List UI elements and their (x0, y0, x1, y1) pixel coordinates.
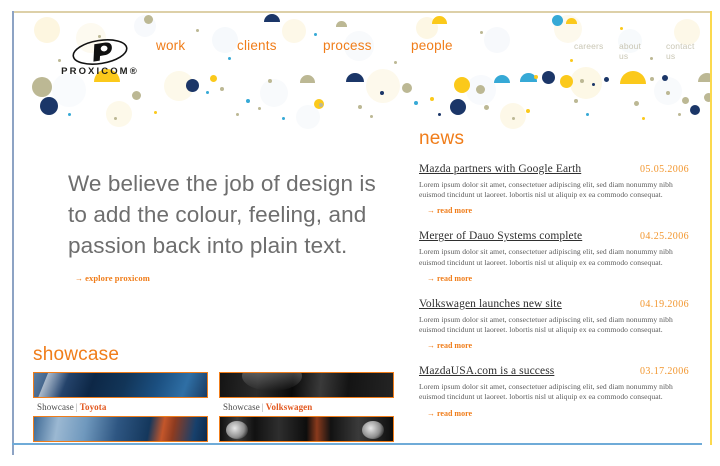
showcase-caption-label: Showcase (223, 402, 260, 412)
news-item-header: Merger of Dauo Systems complete 04.25.20… (419, 230, 689, 244)
nav-item-people[interactable]: people (411, 38, 453, 53)
showcase-title: showcase (33, 344, 403, 366)
page-root: PROXICOM® work clients process people ca… (0, 0, 720, 466)
proxicom-p-logo-icon (70, 39, 130, 65)
news-section: news Mazda partners with Google Earth 05… (419, 128, 689, 433)
showcase-thumbnail-toyota-top[interactable] (33, 372, 208, 398)
page-border-top (12, 11, 712, 13)
nav-item-careers[interactable]: careers (574, 41, 603, 51)
showcase-card-volkswagen[interactable]: Showcase|Volkswagen (219, 372, 394, 442)
news-item: MazdaUSA.com is a success 03.17.2006 Lor… (419, 365, 689, 420)
showcase-card-toyota[interactable]: Showcase|Toyota (33, 372, 208, 442)
read-more-label: read more (437, 274, 472, 283)
hero-statement: We believe the job of design is to add t… (68, 168, 388, 297)
explore-proxicom-link[interactable]: →explore proxicom (75, 263, 150, 294)
showcase-thumbnail-toyota-bottom[interactable] (33, 416, 208, 442)
page-border-bottom (12, 443, 702, 445)
news-body: Lorem ipsum dolor sit amet, consectetuer… (419, 247, 689, 267)
showcase-caption-volkswagen: Showcase|Volkswagen (219, 398, 394, 415)
explore-proxicom-label: explore proxicom (85, 273, 150, 283)
news-headline-link[interactable]: Merger of Dauo Systems complete (419, 230, 582, 242)
showcase-brand-volkswagen: Volkswagen (266, 402, 313, 412)
news-body: Lorem ipsum dolor sit amet, consectetuer… (419, 315, 689, 335)
showcase-caption-separator: | (262, 402, 264, 412)
arrow-right-icon: → (427, 206, 435, 215)
news-title: news (419, 128, 689, 150)
news-date: 04.25.2006 (640, 231, 689, 242)
news-headline-link[interactable]: MazdaUSA.com is a success (419, 365, 554, 377)
page-border-left (12, 11, 14, 455)
arrow-right-icon: → (427, 409, 435, 418)
nav-item-work[interactable]: work (156, 38, 185, 53)
read-more-link[interactable]: →read more (427, 341, 472, 350)
logo-wordmark: PROXICOM® (57, 66, 143, 77)
hero-statement-text: We believe the job of design is to add t… (68, 171, 376, 258)
main-navigation: work clients process people (150, 38, 450, 58)
news-body: Lorem ipsum dolor sit amet, consectetuer… (419, 180, 689, 200)
news-body: Lorem ipsum dolor sit amet, consectetuer… (419, 382, 689, 402)
showcase-caption-label: Showcase (37, 402, 74, 412)
nav-item-contact-us[interactable]: contact us (666, 41, 694, 61)
arrow-right-icon: → (75, 274, 83, 283)
news-item: Volkswagen launches new site 04.19.2006 … (419, 298, 689, 353)
page-border-right (710, 11, 712, 445)
read-more-link[interactable]: →read more (427, 409, 472, 418)
news-headline-link[interactable]: Volkswagen launches new site (419, 298, 562, 310)
hero-section: We believe the job of design is to add t… (68, 168, 388, 297)
nav-item-process[interactable]: process (323, 38, 372, 53)
showcase-section: showcase Showcase|Toyota Showcase|Volk (33, 344, 403, 366)
read-more-label: read more (437, 206, 472, 215)
news-item: Mazda partners with Google Earth 05.05.2… (419, 163, 689, 218)
nav-item-about-us[interactable]: about us (619, 41, 641, 61)
showcase-caption-separator: | (76, 402, 78, 412)
arrow-right-icon: → (427, 341, 435, 350)
nav-item-clients[interactable]: clients (237, 38, 277, 53)
news-date: 05.05.2006 (640, 164, 689, 175)
read-more-label: read more (437, 409, 472, 418)
arrow-right-icon: → (427, 274, 435, 283)
read-more-label: read more (437, 341, 472, 350)
showcase-caption-toyota: Showcase|Toyota (33, 398, 208, 415)
news-item: Merger of Dauo Systems complete 04.25.20… (419, 230, 689, 285)
news-date: 03.17.2006 (640, 366, 689, 377)
read-more-link[interactable]: →read more (427, 206, 472, 215)
news-item-header: MazdaUSA.com is a success 03.17.2006 (419, 365, 689, 379)
news-date: 04.19.2006 (640, 299, 689, 310)
showcase-brand-toyota: Toyota (80, 402, 107, 412)
showcase-thumbnail-volkswagen-top[interactable] (219, 372, 394, 398)
news-item-header: Volkswagen launches new site 04.19.2006 (419, 298, 689, 312)
read-more-link[interactable]: →read more (427, 274, 472, 283)
news-item-header: Mazda partners with Google Earth 05.05.2… (419, 163, 689, 177)
news-headline-link[interactable]: Mazda partners with Google Earth (419, 163, 581, 175)
site-logo[interactable]: PROXICOM® (57, 39, 143, 77)
showcase-thumbnail-volkswagen-bottom[interactable] (219, 416, 394, 442)
